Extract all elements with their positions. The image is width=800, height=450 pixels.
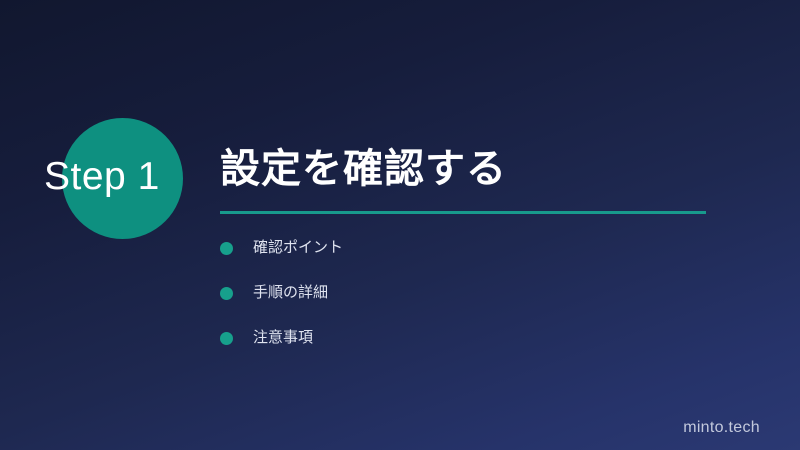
list-item: 注意事項 <box>220 328 700 373</box>
slide-title: 設定を確認する <box>220 146 507 192</box>
list-item-label: 手順の詳細 <box>253 283 328 303</box>
bullet-list: 確認ポイント 手順の詳細 注意事項 <box>220 238 700 373</box>
slide-canvas: Step 1 設定を確認する 確認ポイント 手順の詳細 注意事項 minto.t… <box>0 0 800 450</box>
bullet-dot-icon <box>220 287 233 300</box>
bullet-dot-icon <box>220 242 233 255</box>
list-item: 確認ポイント <box>220 238 700 283</box>
list-item-label: 注意事項 <box>253 328 313 348</box>
step-badge-label: Step 1 <box>44 152 204 202</box>
list-item: 手順の詳細 <box>220 283 700 328</box>
bullet-dot-icon <box>220 332 233 345</box>
list-item-label: 確認ポイント <box>253 238 343 258</box>
title-divider <box>220 211 706 214</box>
footer-brand: minto.tech <box>683 419 760 437</box>
